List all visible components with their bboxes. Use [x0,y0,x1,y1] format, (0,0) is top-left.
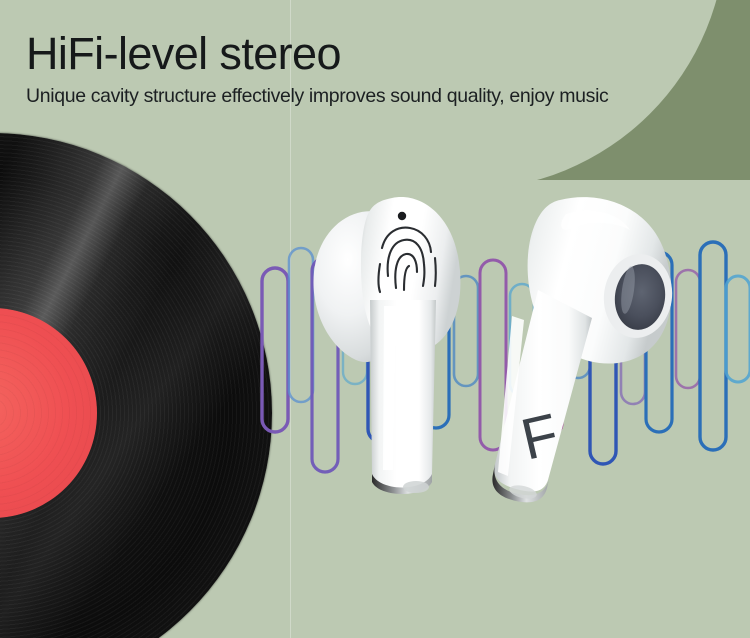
wave-bar-15 [676,270,700,388]
wave-bars [262,242,750,472]
wave-bar-14 [646,252,672,432]
page-subtitle: Unique cavity structure effectively impr… [26,85,608,108]
wave-bar-4 [368,256,394,442]
vinyl-label [0,308,97,518]
wave-bar-6 [423,250,449,428]
wave-bar-2 [312,258,338,472]
wave-bar-3 [343,242,367,384]
wave-bar-0 [262,268,288,432]
wave-bar-13 [621,288,645,404]
text-block: HiFi-level stereo Unique cavity structur… [26,30,608,109]
wave-bar-7 [454,276,478,386]
wave-bar-11 [566,280,590,378]
wave-bar-1 [289,248,313,402]
wave-bar-9 [510,284,534,396]
wave-bar-16 [700,242,726,450]
wave-bar-10 [536,254,562,436]
wave-bar-12 [590,246,616,464]
wave-bar-8 [480,260,506,450]
page-title: HiFi-level stereo [26,30,608,77]
wave-bar-5 [399,272,423,408]
wave-bar-17 [726,276,750,382]
product-banner: F HiFi-level stereo Unique cavity struct… [0,0,750,638]
sound-wave-graphic [248,236,750,516]
